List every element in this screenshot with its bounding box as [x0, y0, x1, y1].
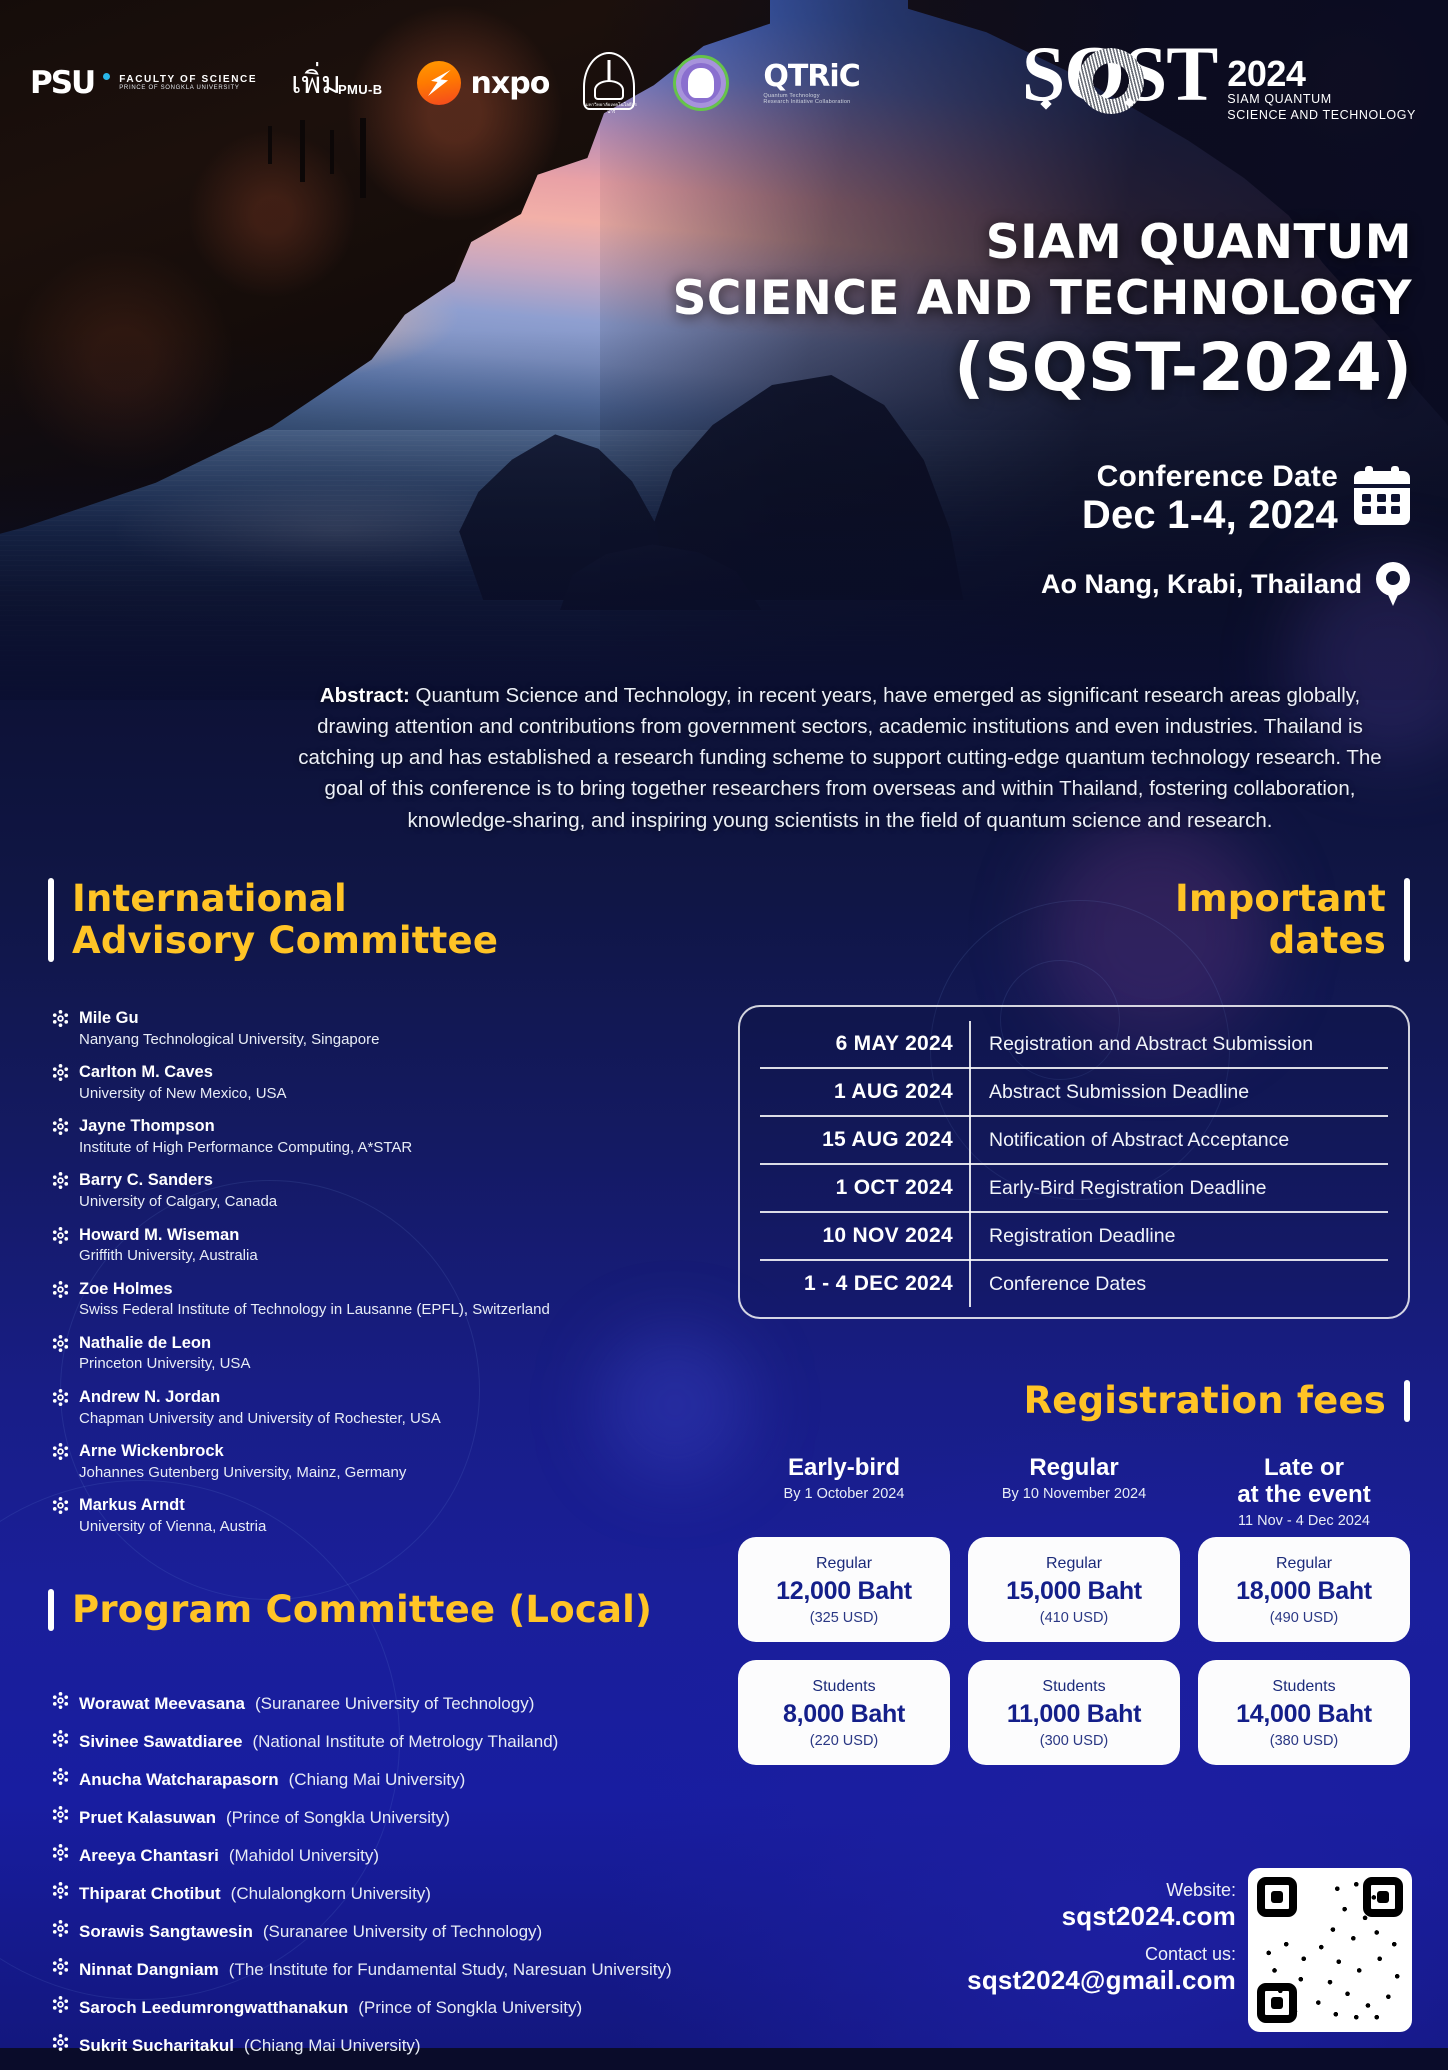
fee-tier-window: By 1 October 2024	[738, 1486, 950, 1502]
fee-amount-baht: 15,000 Baht	[974, 1577, 1174, 1606]
committee-member-affiliation: (Suranaree University of Technology)	[263, 1922, 542, 1942]
milestone-cell: Registration Deadline	[970, 1212, 1388, 1260]
committee-member-affiliation: Nanyang Technological University, Singap…	[79, 1030, 379, 1050]
nxpo-logo: nxpo	[417, 61, 550, 105]
fee-amount-usd: (410 USD)	[974, 1610, 1174, 1626]
fee-audience: Students	[744, 1678, 944, 1696]
fee-card: Regular 18,000 Baht (490 USD)	[1198, 1537, 1410, 1642]
calendar-grid	[1362, 494, 1402, 514]
section-heading-advisory-committee: International Advisory Committee	[48, 878, 542, 962]
atom-icon	[52, 1497, 69, 1514]
poster-title: SIAM QUANTUM SCIENCE AND TECHNOLOGY (SQS…	[452, 215, 1412, 408]
committee-member-name: Worawat Meevasana	[79, 1694, 245, 1714]
qr-finder-top-left	[1257, 1877, 1297, 1917]
pmu-b-label: PMU-B	[338, 82, 383, 97]
atom-icon	[52, 1768, 69, 1785]
atom-icon	[52, 1443, 69, 1460]
committee-member-name: Saroch Leedumrongwatthanakun	[79, 1998, 348, 2018]
heading-text: Program Committee (Local)	[72, 1589, 652, 1631]
atom-icon	[52, 1730, 69, 1747]
committee-member-name: Carlton M. Caves	[79, 1062, 287, 1083]
qr-finder-top-right	[1363, 1877, 1403, 1917]
fee-audience: Students	[974, 1678, 1174, 1696]
fee-card: Regular 12,000 Baht (325 USD)	[738, 1537, 950, 1642]
committee-member-name: Howard M. Wiseman	[79, 1225, 258, 1246]
table-row: 1 OCT 2024 Early-Bird Registration Deadl…	[760, 1164, 1388, 1212]
brand-subtitle-line2: SCIENCE AND TECHNOLOGY	[1227, 108, 1416, 124]
heading-accent-bar	[48, 878, 54, 962]
location-pin-icon	[1376, 562, 1410, 606]
atom-icon	[52, 1692, 69, 1709]
committee-member-affiliation: (Mahidol University)	[229, 1846, 379, 1866]
atom-icon	[52, 1806, 69, 1823]
fee-tier-header: Regular By 10 November 2024	[968, 1455, 1180, 1529]
registration-fees-block: Early-bird By 1 October 2024 Regular By …	[738, 1455, 1410, 1765]
contact-label: Contact us:	[967, 1944, 1236, 1965]
committee-member-name: Arne Wickenbrock	[79, 1441, 406, 1462]
important-dates-table: 6 MAY 2024 Registration and Abstract Sub…	[760, 1021, 1388, 1307]
committee-member-name: Barry C. Sanders	[79, 1170, 277, 1191]
nxpo-label: nxpo	[471, 66, 550, 101]
psu-dot-icon	[103, 73, 110, 80]
list-item: Howard M. Wiseman Griffith University, A…	[52, 1225, 692, 1266]
committee-member-affiliation: (The Institute for Fundamental Study, Na…	[229, 1960, 672, 1980]
fee-cards-grid: Regular 12,000 Baht (325 USD) Regular 15…	[738, 1537, 1410, 1765]
atom-icon	[52, 2034, 69, 2051]
date-cell: 1 - 4 DEC 2024	[760, 1260, 970, 1307]
heading-accent-bar	[48, 1589, 54, 1631]
stalactite-2	[330, 130, 334, 174]
fee-card: Students 8,000 Baht (220 USD)	[738, 1660, 950, 1765]
heading-accent-bar	[1404, 878, 1410, 962]
list-item: Ninnat Dangniam (The Institute for Funda…	[52, 1956, 752, 1980]
brand-subtitle-line1: SIAM QUANTUM	[1227, 92, 1416, 108]
committee-member-affiliation: (Suranaree University of Technology)	[255, 1694, 534, 1714]
fee-amount-baht: 8,000 Baht	[744, 1700, 944, 1729]
list-item: Pruet Kalasuwan (Prince of Songkla Unive…	[52, 1804, 752, 1828]
date-cell: 6 MAY 2024	[760, 1021, 970, 1068]
title-line-1: SIAM QUANTUM	[452, 215, 1412, 271]
committee-member-affiliation: (Chiang Mai University)	[289, 1770, 466, 1790]
important-dates-card: 6 MAY 2024 Registration and Abstract Sub…	[738, 1005, 1410, 1319]
milestone-cell: Registration and Abstract Submission	[970, 1021, 1388, 1068]
psu-university-label: PRINCE OF SONGKLA UNIVERSITY	[119, 85, 257, 92]
pmu-thai-script: เพิ่ม	[291, 70, 341, 97]
atom-icon	[52, 1958, 69, 1975]
fee-audience: Regular	[974, 1555, 1174, 1573]
fee-card: Students 11,000 Baht (300 USD)	[968, 1660, 1180, 1765]
qr-finder-bottom-left	[1257, 1983, 1297, 2023]
fee-amount-baht: 18,000 Baht	[1204, 1577, 1404, 1606]
committee-member-affiliation: University of Calgary, Canada	[79, 1192, 277, 1212]
stalactite-1	[300, 120, 305, 182]
committee-member-affiliation: Johannes Gutenberg University, Mainz, Ge…	[79, 1463, 406, 1483]
list-item: Areeya Chantasri (Mahidol University)	[52, 1842, 752, 1866]
calendar-ear-left	[1365, 466, 1373, 477]
committee-member-name: Thiparat Chotibut	[79, 1884, 221, 1904]
fee-amount-baht: 14,000 Baht	[1204, 1700, 1404, 1729]
fee-audience: Students	[1204, 1678, 1404, 1696]
atom-icon	[52, 1389, 69, 1406]
abstract-body: Quantum Science and Technology, in recen…	[298, 684, 1381, 832]
committee-member-affiliation: Princeton University, USA	[79, 1354, 250, 1374]
list-item: Mile Gu Nanyang Technological University…	[52, 1008, 692, 1049]
list-item: Anucha Watcharapasorn (Chiang Mai Univer…	[52, 1766, 752, 1790]
psu-mark: PSU	[30, 65, 94, 101]
fee-tier-window: 11 Nov - 4 Dec 2024	[1198, 1513, 1410, 1529]
committee-member-name: Sivinee Sawatdiaree	[79, 1732, 242, 1752]
fee-amount-usd: (380 USD)	[1204, 1733, 1404, 1749]
date-cell: 15 AUG 2024	[760, 1116, 970, 1164]
date-cell: 10 NOV 2024	[760, 1212, 970, 1260]
committee-member-name: Nathalie de Leon	[79, 1333, 250, 1354]
committee-member-affiliation: University of New Mexico, USA	[79, 1084, 287, 1104]
calendar-icon	[1354, 471, 1410, 525]
fee-audience: Regular	[1204, 1555, 1404, 1573]
date-cell: 1 OCT 2024	[760, 1164, 970, 1212]
fee-amount-usd: (325 USD)	[744, 1610, 944, 1626]
fee-tier-name: Regular	[968, 1455, 1180, 1482]
stalactite-3	[360, 118, 366, 198]
table-row: 6 MAY 2024 Registration and Abstract Sub…	[760, 1021, 1388, 1068]
fee-tier-window: By 10 November 2024	[968, 1486, 1180, 1502]
list-item: Nathalie de Leon Princeton University, U…	[52, 1333, 692, 1374]
fee-tier-name: Late or at the event	[1198, 1455, 1410, 1509]
list-item: Zoe Holmes Swiss Federal Institute of Te…	[52, 1279, 692, 1320]
conference-poster: PSU FACULTY OF SCIENCE PRINCE OF SONGKLA…	[0, 0, 1448, 2048]
committee-member-name: Sukrit Sucharitakul	[79, 2036, 234, 2056]
committee-member-affiliation: (Prince of Songkla University)	[226, 1808, 450, 1828]
qtric-logo: QTRiC Quantum Technology Research Initia…	[763, 62, 859, 105]
list-item: Carlton M. Caves University of New Mexic…	[52, 1062, 692, 1103]
atom-icon	[52, 1064, 69, 1081]
fee-amount-baht: 11,000 Baht	[974, 1700, 1174, 1729]
committee-member-name: Andrew N. Jordan	[79, 1387, 441, 1408]
heading-text: Registration fees	[1024, 1380, 1386, 1422]
milestone-cell: Conference Dates	[970, 1260, 1388, 1307]
list-item: Thiparat Chotibut (Chulalongkorn Univers…	[52, 1880, 752, 1904]
fee-amount-usd: (300 USD)	[974, 1733, 1174, 1749]
stalactite-4	[268, 126, 272, 164]
fee-audience: Regular	[744, 1555, 944, 1573]
committee-member-affiliation: Swiss Federal Institute of Technology in…	[79, 1300, 550, 1320]
committee-member-name: Mile Gu	[79, 1008, 379, 1029]
committee-member-affiliation: University of Vienna, Austria	[79, 1517, 266, 1537]
committee-member-name: Sorawis Sangtawesin	[79, 1922, 253, 1942]
conference-location: Ao Nang, Krabi, Thailand	[1041, 569, 1362, 600]
fee-tier-name: Early-bird	[738, 1455, 950, 1482]
website-label: Website:	[967, 1880, 1236, 1901]
committee-member-name: Ninnat Dangniam	[79, 1960, 219, 1980]
committee-member-name: Zoe Holmes	[79, 1279, 550, 1300]
atom-icon	[52, 1882, 69, 1899]
program-committee-list: Worawat Meevasana (Suranaree University …	[52, 1690, 752, 2070]
section-heading-program-committee: Program Committee (Local)	[48, 1589, 652, 1631]
atom-icon	[52, 1118, 69, 1135]
table-row: 15 AUG 2024 Notification of Abstract Acc…	[760, 1116, 1388, 1164]
atom-icon	[52, 1920, 69, 1937]
fee-tier-header: Late or at the event 11 Nov - 4 Dec 2024	[1198, 1455, 1410, 1529]
sponsor-logo-bar: PSU FACULTY OF SCIENCE PRINCE OF SONGKLA…	[30, 48, 860, 118]
qr-code[interactable]	[1248, 1868, 1412, 2032]
table-row: 10 NOV 2024 Registration Deadline	[760, 1212, 1388, 1260]
conference-date-value: Dec 1-4, 2024	[1082, 494, 1338, 536]
milestone-cell: Early-Bird Registration Deadline	[970, 1164, 1388, 1212]
list-item: Worawat Meevasana (Suranaree University …	[52, 1690, 752, 1714]
heading-text: International Advisory Committee	[72, 878, 542, 962]
abstract-paragraph: Abstract: Quantum Science and Technology…	[290, 680, 1390, 836]
calendar-ear-right	[1391, 466, 1399, 477]
section-heading-important-dates: Important dates	[1156, 878, 1410, 962]
title-line-2: SCIENCE AND TECHNOLOGY	[452, 271, 1412, 327]
committee-member-affiliation: (National Institute of Metrology Thailan…	[252, 1732, 558, 1752]
advisory-committee-list: Mile Gu Nanyang Technological University…	[52, 1008, 692, 1549]
nxpo-arrow-icon	[417, 61, 461, 105]
contact-block: Website: sqst2024.com Contact us: sqst20…	[967, 1880, 1236, 2008]
milestone-cell: Abstract Submission Deadline	[970, 1068, 1388, 1116]
qtric-label: QTRiC	[763, 59, 859, 94]
fee-amount-usd: (220 USD)	[744, 1733, 944, 1749]
atom-icon	[52, 1281, 69, 1298]
committee-member-affiliation: (Chulalongkorn University)	[231, 1884, 431, 1904]
event-datetime-block: Conference Date Dec 1-4, 2024 Ao Nang, K…	[1041, 460, 1410, 606]
fee-card: Students 14,000 Baht (380 USD)	[1198, 1660, 1410, 1765]
fee-amount-baht: 12,000 Baht	[744, 1577, 944, 1606]
website-url[interactable]: sqst2024.com	[967, 1901, 1236, 1932]
heading-accent-bar	[1404, 1380, 1410, 1422]
committee-member-affiliation: Institute of High Performance Computing,…	[79, 1138, 412, 1158]
fee-card: Regular 15,000 Baht (410 USD)	[968, 1537, 1180, 1642]
atom-icon	[52, 1010, 69, 1027]
atom-icon	[52, 1996, 69, 2013]
thai-university-seal-logo: มหาวิทยาลัยเทคโนโลยีสุรนารี	[583, 52, 639, 114]
committee-member-name: Areeya Chantasri	[79, 1846, 219, 1866]
committee-member-name: Anucha Watcharapasorn	[79, 1770, 279, 1790]
list-item: Arne Wickenbrock Johannes Gutenberg Univ…	[52, 1441, 692, 1482]
committee-member-affiliation: Chapman University and University of Roc…	[79, 1409, 441, 1429]
list-item: Jayne Thompson Institute of High Perform…	[52, 1116, 692, 1157]
atom-icon	[52, 1227, 69, 1244]
committee-member-affiliation: (Prince of Songkla University)	[358, 1998, 582, 2018]
list-item: Barry C. Sanders University of Calgary, …	[52, 1170, 692, 1211]
table-row: 1 AUG 2024 Abstract Submission Deadline	[760, 1068, 1388, 1116]
committee-member-affiliation: Griffith University, Australia	[79, 1246, 258, 1266]
fee-tier-header: Early-bird By 1 October 2024	[738, 1455, 950, 1529]
heading-text: Important dates	[1156, 878, 1386, 962]
contact-email[interactable]: sqst2024@gmail.com	[967, 1965, 1236, 1996]
conference-date-label: Conference Date	[1082, 460, 1338, 494]
pmu-b-logo: เพิ่ม PMU-B	[291, 70, 382, 97]
psu-faculty-of-science-logo: PSU FACULTY OF SCIENCE PRINCE OF SONGKLA…	[30, 65, 257, 101]
psu-faculty-label: FACULTY OF SCIENCE	[119, 74, 257, 85]
date-cell: 1 AUG 2024	[760, 1068, 970, 1116]
title-line-3: (SQST-2024)	[452, 328, 1412, 409]
committee-member-name: Pruet Kalasuwan	[79, 1808, 216, 1828]
sqst-brand-logo: SQST 2024 SIAM QUANTUM SCIENCE AND TECHN…	[1022, 42, 1416, 123]
section-heading-registration-fees: Registration fees	[1024, 1380, 1410, 1422]
committee-member-name: Markus Arndt	[79, 1495, 266, 1516]
committee-member-affiliation: (Chiang Mai University)	[244, 2036, 421, 2056]
list-item: Sivinee Sawatdiaree (National Institute …	[52, 1728, 752, 1752]
atom-icon	[52, 1844, 69, 1861]
list-item: Andrew N. Jordan Chapman University and …	[52, 1387, 692, 1428]
abstract-label: Abstract:	[320, 684, 410, 707]
list-item: Markus Arndt University of Vienna, Austr…	[52, 1495, 692, 1536]
atom-icon	[52, 1172, 69, 1189]
elephant-seal-logo	[673, 55, 729, 111]
qtric-line2: Research Initiative Collaboration	[763, 99, 859, 105]
list-item: Saroch Leedumrongwatthanakun (Prince of …	[52, 1994, 752, 2018]
list-item: Sukrit Sucharitakul (Chiang Mai Universi…	[52, 2032, 752, 2056]
fee-tier-headers: Early-bird By 1 October 2024 Regular By …	[738, 1455, 1410, 1529]
atom-icon	[52, 1335, 69, 1352]
committee-member-name: Jayne Thompson	[79, 1116, 412, 1137]
brand-year: 2024	[1227, 56, 1416, 92]
seal-caption: มหาวิทยาลัยเทคโนโลยีสุรนารี	[583, 101, 639, 115]
table-row: 1 - 4 DEC 2024 Conference Dates	[760, 1260, 1388, 1307]
milestone-cell: Notification of Abstract Acceptance	[970, 1116, 1388, 1164]
fee-amount-usd: (490 USD)	[1204, 1610, 1404, 1626]
list-item: Sorawis Sangtawesin (Suranaree Universit…	[52, 1918, 752, 1942]
